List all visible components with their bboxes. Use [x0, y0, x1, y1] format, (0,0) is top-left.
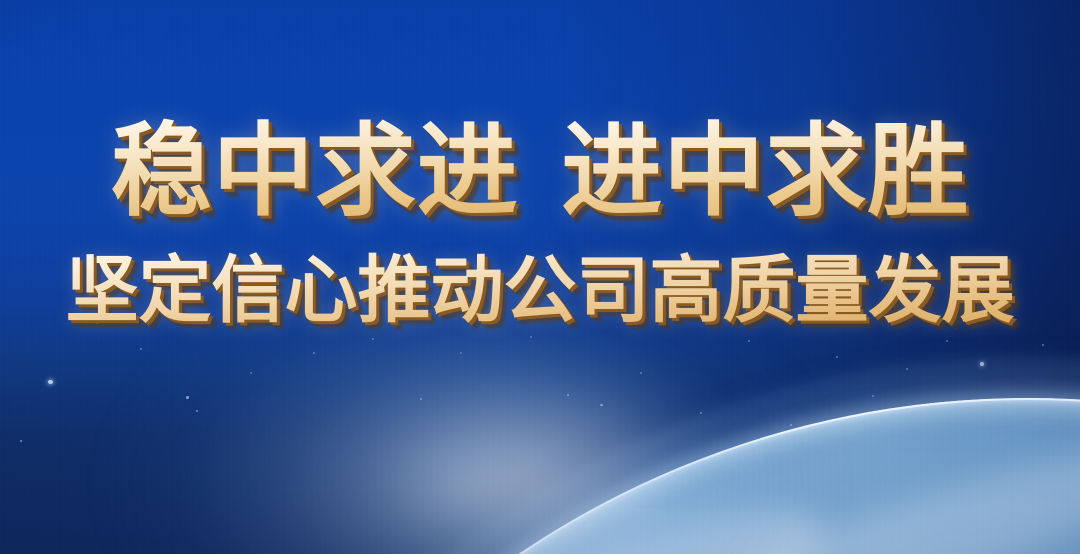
headline: 稳中求进进中求胜: [0, 112, 1080, 230]
subheadline-text: 坚定信心推动公司高质量发展: [66, 248, 1015, 334]
poster-banner: 稳中求进进中求胜 坚定信心推动公司高质量发展: [0, 0, 1080, 554]
headline-phrase-1: 稳中求进: [111, 112, 519, 230]
subheadline: 坚定信心推动公司高质量发展: [0, 248, 1080, 334]
headline-phrase-2: 进中求胜: [561, 112, 969, 230]
